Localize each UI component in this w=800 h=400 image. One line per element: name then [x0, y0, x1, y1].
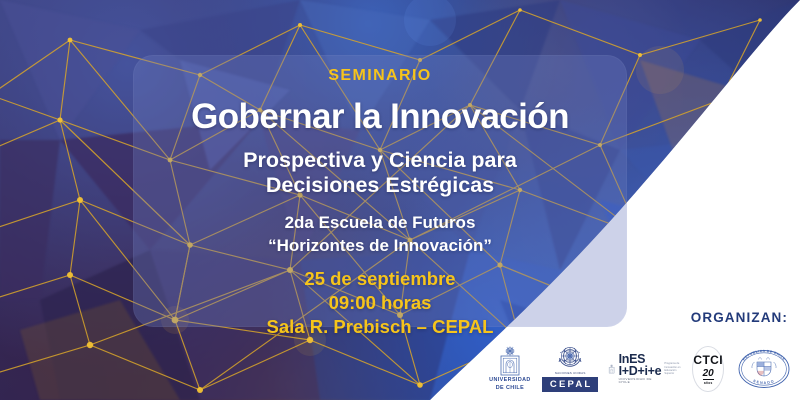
- ctci-line-1: CTCI: [693, 353, 723, 367]
- page-title: Gobernar la Innovación: [191, 99, 569, 136]
- subtitle-line-1: Prospectiva y Ciencia para: [243, 148, 517, 173]
- ines-line-2: I+D+i+e: [619, 366, 662, 378]
- organizer-logos: UNIVERSIDAD DE CHILE: [488, 341, 794, 397]
- uchile-crest-icon: [497, 346, 523, 376]
- event-time: 09:00 horas: [267, 291, 494, 315]
- logo-ines-idie: InES I+D+i+e UNIVERSIDAD DE CHILE Progra…: [608, 354, 682, 385]
- cepal-un-subtitle: NACIONES UNIDAS: [555, 371, 586, 375]
- uchile-line-1: UNIVERSIDAD: [489, 377, 531, 384]
- subtitle-line-2: Decisiones Estrégicas: [243, 173, 517, 198]
- uchile-line-2: DE CHILE: [496, 385, 524, 392]
- event-line-2: “Horizontes de Innovación”: [268, 235, 492, 257]
- event-date: 25 de septiembre: [267, 267, 494, 291]
- logo-universidad-de-chile: UNIVERSIDAD DE CHILE: [488, 346, 532, 392]
- ines-side-note: Programa de Innovación en Educación Supe…: [664, 362, 682, 375]
- ctci-anniversary-number: 20: [703, 369, 714, 380]
- senado-seal-icon: REPUBLICA DE CHILE SENADO: [734, 348, 794, 390]
- uchile-crest-small-icon: [608, 355, 615, 383]
- logo-cepal: NACIONES UNIDAS CEPAL: [542, 346, 599, 393]
- ines-line-3: UNIVERSIDAD DE CHILE: [619, 378, 662, 384]
- cepal-wordmark: CEPAL: [542, 377, 599, 393]
- event-name-block: 2da Escuela de Futuros “Horizontes de In…: [268, 198, 492, 257]
- organizers-label: ORGANIZAN:: [691, 310, 788, 325]
- event-line-1: 2da Escuela de Futuros: [268, 212, 492, 234]
- subtitle: Prospectiva y Ciencia para Decisiones Es…: [243, 136, 517, 199]
- svg-text:REPUBLICA DE CHILE: REPUBLICA DE CHILE: [742, 349, 787, 361]
- event-venue: Sala R. Prebisch – CEPAL: [267, 315, 494, 339]
- poster-text-block: SEMINARIO Gobernar la Innovación Prospec…: [133, 55, 627, 327]
- ctci-anniversary-label: años: [704, 381, 713, 385]
- ines-wordmark: InES I+D+i+e UNIVERSIDAD DE CHILE: [619, 354, 662, 385]
- event-details-block: 25 de septiembre 09:00 horas Sala R. Pre…: [267, 267, 494, 339]
- kicker-seminario: SEMINARIO: [328, 67, 431, 85]
- logo-ctci: CTCI 20 años: [692, 346, 724, 392]
- logo-senado: REPUBLICA DE CHILE SENADO: [734, 348, 794, 390]
- seminar-poster: SEMINARIO Gobernar la Innovación Prospec…: [0, 0, 800, 400]
- united-nations-emblem-icon: [556, 346, 584, 369]
